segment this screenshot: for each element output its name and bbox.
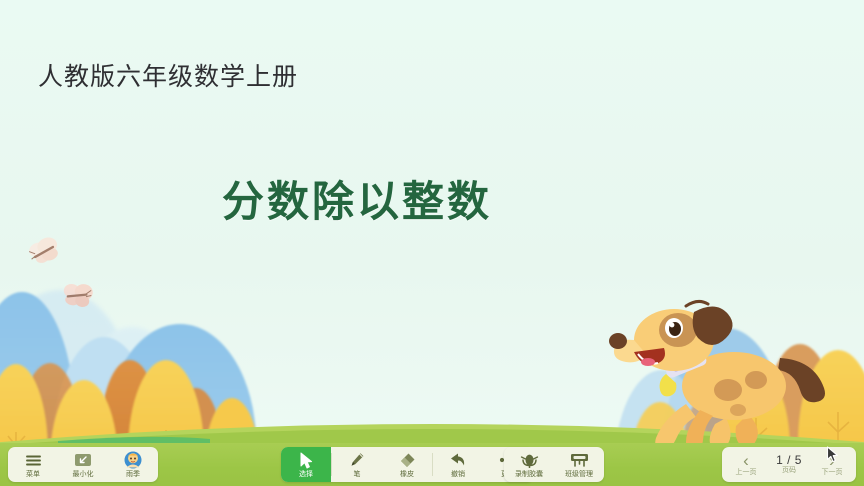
user-profile-label: 雨季 xyxy=(126,470,140,478)
cursor-select-icon xyxy=(299,452,313,469)
chevron-right-icon: › xyxy=(829,452,835,469)
select-tool-label: 选择 xyxy=(299,470,313,478)
minimize-button-label: 最小化 xyxy=(73,470,94,478)
slide-subtitle: 人教版六年级数学上册 xyxy=(38,57,298,93)
page-title: 分数除以整数 xyxy=(222,168,492,229)
left-toolbar-panel: 菜单 最小化 xyxy=(8,447,158,482)
undo-button[interactable]: 撤销 xyxy=(433,447,483,482)
page-number-value: 1 / 5 xyxy=(776,454,802,467)
undo-button-label: 撤销 xyxy=(451,470,465,478)
record-capsule-label: 录制胶囊 xyxy=(515,470,543,478)
eraser-icon xyxy=(399,452,416,469)
class-management-label: 班级管理 xyxy=(565,470,593,478)
user-avatar-icon xyxy=(124,452,142,469)
pen-tool-label: 笔 xyxy=(354,470,361,478)
select-tool-button[interactable]: 选择 xyxy=(281,447,331,482)
undo-arrow-icon xyxy=(449,452,467,469)
page-indicator[interactable]: 1 / 5 页码 xyxy=(766,454,812,475)
eraser-tool-label: 橡皮 xyxy=(400,470,414,478)
eraser-tool-button[interactable]: 橡皮 xyxy=(382,447,432,482)
menu-button[interactable]: 菜单 xyxy=(8,447,58,482)
user-profile-button[interactable]: 雨季 xyxy=(108,447,158,482)
menu-button-label: 菜单 xyxy=(26,470,40,478)
record-capsule-icon xyxy=(520,452,539,469)
previous-page-button[interactable]: ‹ 上一页 xyxy=(728,452,764,477)
drawing-tools-panel: 选择 笔 xyxy=(281,447,533,482)
class-management-button[interactable]: 班级管理 xyxy=(554,447,604,482)
next-page-button[interactable]: › 下一页 xyxy=(814,452,850,477)
page-number-label: 页码 xyxy=(782,467,796,475)
minimize-button[interactable]: 最小化 xyxy=(58,447,108,482)
class-management-icon xyxy=(570,452,589,469)
previous-page-label: 上一页 xyxy=(736,469,757,477)
hamburger-menu-icon xyxy=(25,452,42,469)
next-page-label: 下一页 xyxy=(822,469,843,477)
pen-tool-button[interactable]: 笔 xyxy=(332,447,382,482)
pagination-panel: ‹ 上一页 1 / 5 页码 › 下一页 xyxy=(722,447,856,482)
pen-icon xyxy=(349,452,365,469)
presentation-window: 人教版六年级数学上册 分数除以整数 菜单 xyxy=(0,0,864,486)
record-capsule-button[interactable]: 录制胶囊 xyxy=(504,447,554,482)
bottom-toolbar: 菜单 最小化 xyxy=(0,443,864,486)
chevron-left-icon: ‹ xyxy=(743,452,749,469)
minimize-icon xyxy=(74,452,92,469)
slide-canvas[interactable]: 人教版六年级数学上册 分数除以整数 xyxy=(0,0,864,443)
class-tools-panel: 录制胶囊 班级管理 xyxy=(504,447,604,482)
